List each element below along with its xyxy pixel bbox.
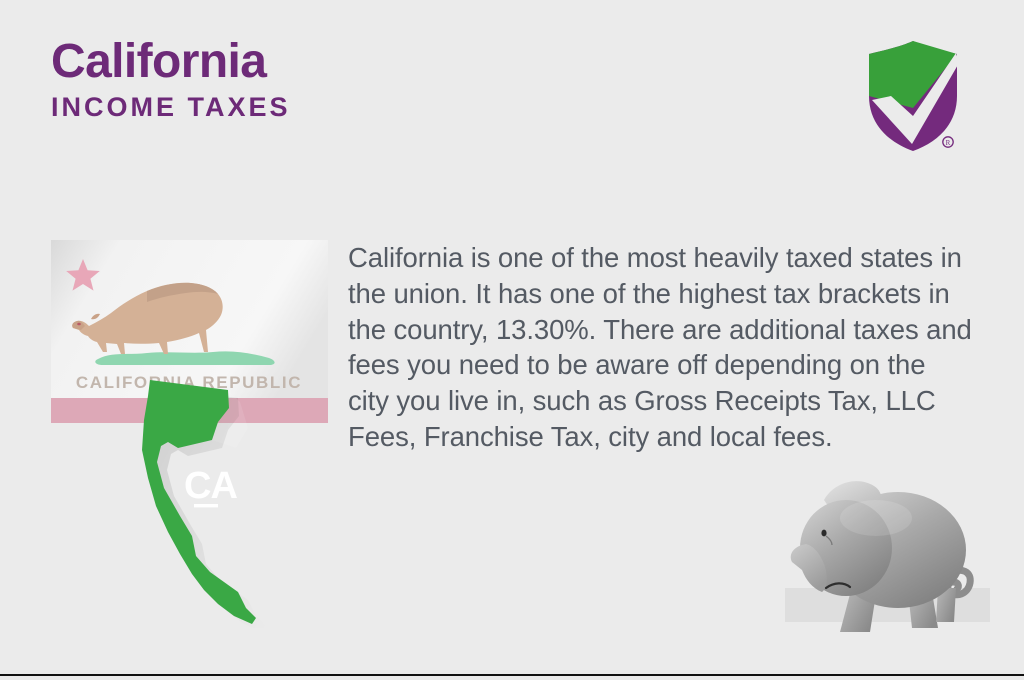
california-state-graphic: CA <box>136 378 316 628</box>
piggy-bank-graphic <box>780 470 1000 642</box>
registered-trademark-icon: R <box>943 137 953 147</box>
california-state-silhouette: CA <box>136 378 316 628</box>
svg-text:R: R <box>946 139 951 147</box>
piggy-eye <box>821 530 826 537</box>
shield-check-logo: R <box>866 40 960 152</box>
body-paragraph: California is one of the most heavily ta… <box>348 240 973 455</box>
page-title: California <box>51 38 291 86</box>
piggy-bank-illustration <box>780 470 1000 642</box>
state-label-group: CA <box>184 465 237 507</box>
state-label: CA <box>184 465 237 507</box>
infographic-canvas: California INCOME TAXES R <box>0 0 1024 680</box>
shield-check-icon: R <box>866 40 960 152</box>
bottom-divider <box>0 674 1024 676</box>
state-label-underline <box>194 504 218 507</box>
piggy-highlight <box>840 500 912 536</box>
page-subtitle: INCOME TAXES <box>51 92 291 123</box>
header: California INCOME TAXES <box>51 38 291 123</box>
